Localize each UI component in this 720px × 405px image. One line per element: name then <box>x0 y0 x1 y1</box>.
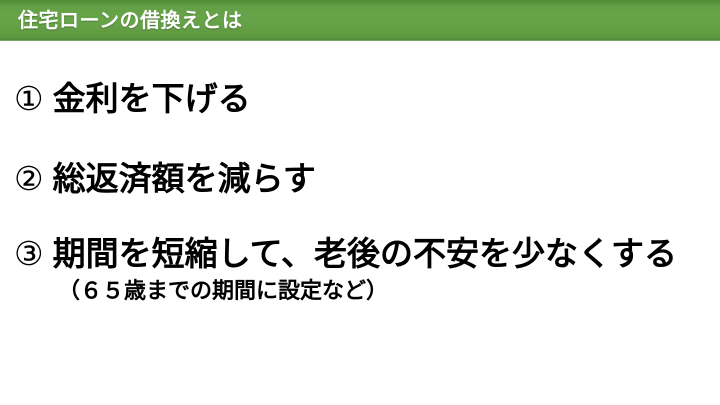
slide-body: ① 金利を下げる ② 総返済額を減らす ③ 期間を短縮して、老後の不安を少なくす… <box>0 41 720 405</box>
list-item: ② 総返済額を減らす <box>14 162 316 195</box>
list-item-marker: ② <box>14 162 44 195</box>
list-item-marker: ③ <box>14 237 44 270</box>
list-item: ③ 期間を短縮して、老後の不安を少なくする <box>14 237 677 270</box>
list-item-label: 期間を短縮して、老後の不安を少なくする <box>53 237 677 270</box>
slide-root: 住宅ローンの借換えとは ① 金利を下げる ② 総返済額を減らす ③ 期間を短縮し… <box>0 0 720 405</box>
list-item-label: 総返済額を減らす <box>53 162 316 195</box>
slide-header-bar: 住宅ローンの借換えとは <box>0 0 720 41</box>
page-title: 住宅ローンの借換えとは <box>18 0 243 41</box>
list-item-label: 金利を下げる <box>53 82 251 115</box>
list-item-sub-note: （６５歳までの期間に設定など） <box>58 281 388 303</box>
list-item-marker: ① <box>14 82 44 115</box>
list-item: ① 金利を下げる <box>14 82 251 115</box>
